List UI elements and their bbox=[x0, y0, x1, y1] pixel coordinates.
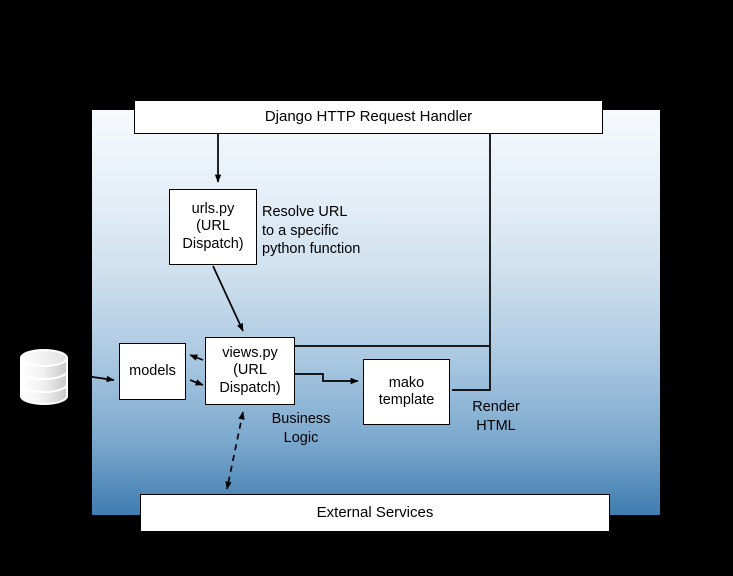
node-mako-template[interactable]: mako template bbox=[363, 359, 450, 425]
node-external-services[interactable]: External Services bbox=[140, 494, 610, 532]
node-django-http-request-handler[interactable]: Django HTTP Request Handler bbox=[134, 100, 603, 134]
node-views-py[interactable]: views.py (URL Dispatch) bbox=[205, 337, 295, 405]
node-label: views.py (URL Dispatch) bbox=[219, 345, 280, 396]
node-urls-py[interactable]: urls.py (URL Dispatch) bbox=[169, 189, 257, 265]
gradient-panel bbox=[92, 110, 660, 515]
node-label: External Services bbox=[317, 504, 434, 522]
database-icon bbox=[18, 348, 70, 406]
node-label: Django HTTP Request Handler bbox=[265, 108, 472, 126]
node-label: models bbox=[129, 363, 176, 380]
annotation-render-html: Render HTML bbox=[455, 398, 537, 435]
annotation-resolve-url: Resolve URL to a specific python functio… bbox=[262, 203, 390, 259]
annotation-business-logic: Business Logic bbox=[253, 410, 349, 447]
node-label: urls.py (URL Dispatch) bbox=[182, 201, 243, 252]
diagram-canvas: Django HTTP Request Handler urls.py (URL… bbox=[0, 0, 733, 576]
node-label: mako template bbox=[379, 375, 435, 409]
node-models[interactable]: models bbox=[119, 343, 186, 400]
